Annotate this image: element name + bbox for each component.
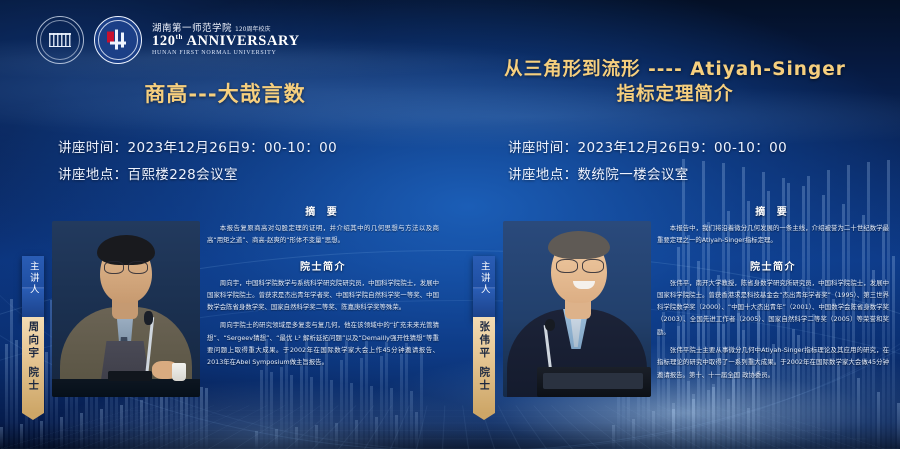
speaker-name-right: 张伟平 院士 [479,321,490,413]
bio-heading-right: 院士简介 [657,258,889,273]
bio-paragraph-left-1: 周向宇，中国科学院数学与系统科学研究院研究员，中国科学院院士，发展中国家科学院院… [207,277,439,314]
lecture-panel-left: 商高---大哉言数 讲座时间：2023年12月26日9：00-10：00 讲座地… [0,0,450,449]
bio-heading-left: 院士简介 [207,258,439,273]
lecture-place-left: 讲座地点：百熙楼228会议室 [58,163,238,183]
lecture-title-right-line1: 从三角形到流形 ---- Atiyah-Singer [450,58,900,83]
abstract-heading-right: 摘 要 [657,203,889,218]
lecture-panel-right: 从三角形到流形 ---- Atiyah-Singer 指标定理简介 讲座时间：2… [450,0,900,449]
lecture-time-right: 讲座时间：2023年12月26日9：00-10：00 [508,136,787,156]
speaker-role-plaque-right: 主讲人 [473,256,495,321]
lecture-title-left: 商高---大哉言数 [0,80,450,108]
bio-paragraph-left-2: 周向宇院士的研究领域是多复变与复几何，他在该领域中的“扩充未来光管猜想”、“Se… [207,319,439,368]
speaker-name-plaque-left: 周向宇 院士 [22,317,44,413]
lecture-title-right-line2: 指标定理简介 [450,83,900,108]
speaker-role-left: 主讲人 [28,261,38,296]
speaker-portrait-right [503,221,651,397]
lecture-text-right: 摘 要 本报告中，我们将沿着微分几何发展的一条主线，介绍被誉为二十世纪数学最重要… [657,203,889,387]
bio-paragraph-right-2: 张伟平院士主要从事微分几何中Atiyah-Singer指标理论及其应用的研究，在… [657,344,889,381]
lecture-poster: 湖南第一师范学院120周年校庆 120th ANNIVERSARY HUNAN … [0,0,900,449]
bio-paragraph-right-1: 张伟平，南开大学教授，陈省身数学研究所研究员，中国科学院院士，发展中国家科学院院… [657,277,889,338]
speaker-role-right: 主讲人 [479,261,489,296]
lecture-place-right: 讲座地点：数统院一楼会议室 [508,163,689,183]
abstract-text-right: 本报告中，我们将沿着微分几何发展的一条主线，介绍被誉为二十世纪数学最重要定理之一… [657,222,889,247]
lecture-title-right: 从三角形到流形 ---- Atiyah-Singer 指标定理简介 [450,58,900,108]
speaker-portrait-left [52,221,200,397]
lecture-text-left: 摘 要 本报告复原商高对勾股定理的证明，并介绍其中的几何思想与方法以及商高“用矩… [207,203,439,375]
abstract-heading-left: 摘 要 [207,203,439,218]
speaker-role-plaque-left: 主讲人 [22,256,44,321]
speaker-name-left: 周向宇 院士 [28,321,39,413]
lecture-time-left: 讲座时间：2023年12月26日9：00-10：00 [58,136,337,156]
abstract-text-left: 本报告复原商高对勾股定理的证明，并介绍其中的几何思想与方法以及商高“用矩之道”、… [207,222,439,247]
speaker-name-plaque-right: 张伟平 院士 [473,317,495,413]
